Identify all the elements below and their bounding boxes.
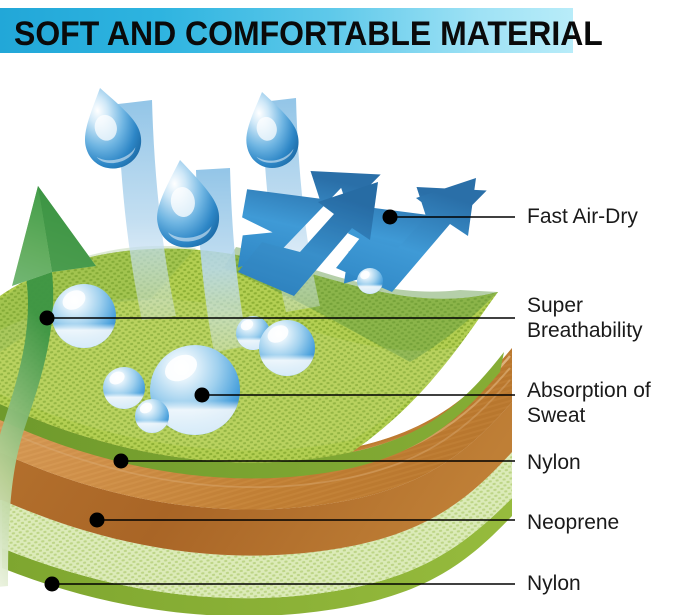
infographic-canvas: SOFT AND COMFORTABLE MATERIAL Fast Air-D… xyxy=(0,0,679,615)
header-banner: SOFT AND COMFORTABLE MATERIAL xyxy=(0,8,573,53)
leader-dot-super-breathability xyxy=(40,311,55,326)
leader-dot-absorption-of-sweat xyxy=(195,388,210,403)
leader-dot-nylon-bottom xyxy=(45,577,60,592)
page-title: SOFT AND COMFORTABLE MATERIAL xyxy=(14,17,603,51)
callout-label-absorption-of-sweat: Absorption of Sweat xyxy=(527,378,651,428)
callout-label-neoprene: Neoprene xyxy=(527,510,619,535)
callout-label-nylon-bottom: Nylon xyxy=(527,571,581,596)
callout-label-fast-air-dry: Fast Air-Dry xyxy=(527,204,638,229)
leader-dot-nylon-top xyxy=(114,454,129,469)
leader-dot-neoprene xyxy=(90,513,105,528)
leader-dot-fast-air-dry xyxy=(383,210,398,225)
callout-label-nylon-top: Nylon xyxy=(527,450,581,475)
callout-label-super-breathability: Super Breathability xyxy=(527,293,643,343)
